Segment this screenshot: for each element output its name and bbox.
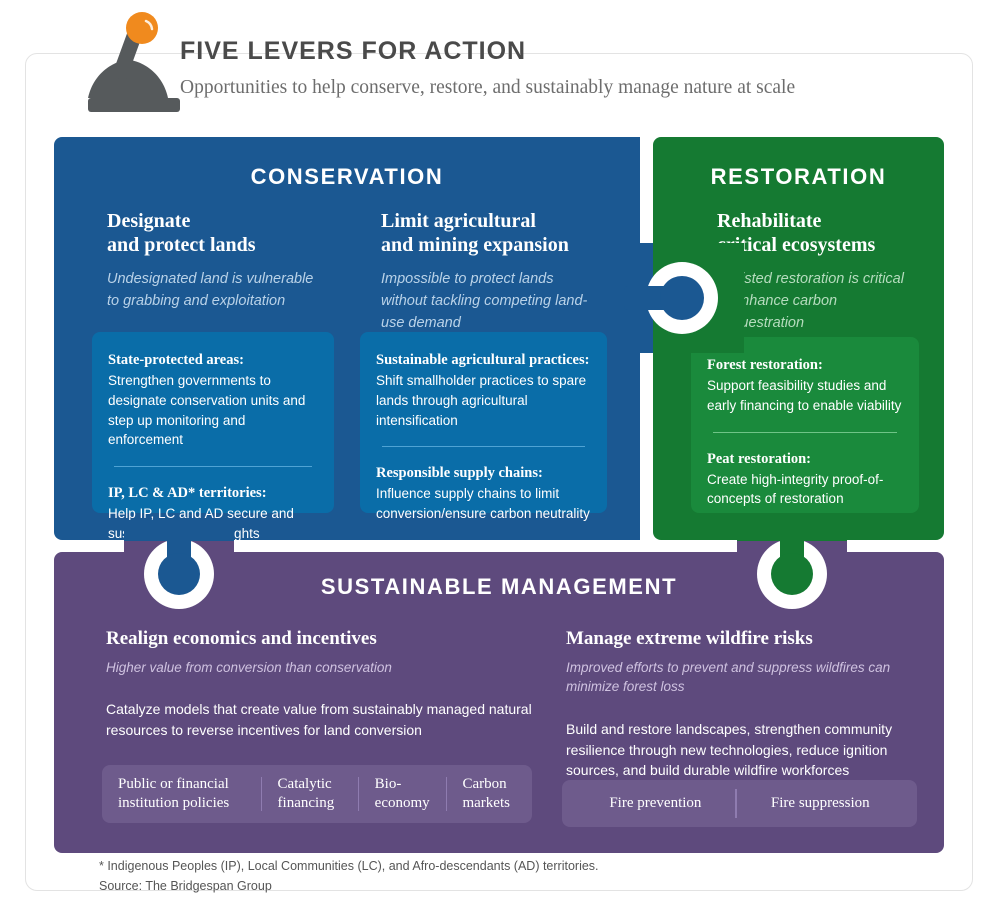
lever-subtitle-rehabilitate: Assisted restoration is critical to enha… [717,268,917,334]
card-item-label: Responsible supply chains: [376,465,543,481]
conservation-heading: CONSERVATION [54,164,640,190]
header-text-group: FIVE LEVERS FOR ACTION Opportunities to … [180,38,795,99]
lever-title-line1: Designate [107,210,190,232]
lever-icon [84,10,180,116]
lever-title-designate: Designate and protect lands [107,209,322,258]
card-item-label: Peat restoration: [707,451,811,467]
footnote-line-1: * Indigenous Peoples (IP), Local Communi… [99,856,599,876]
card-item-text: Shift smallholder practices to spare lan… [376,373,586,427]
page-title: FIVE LEVERS FOR ACTION [180,38,795,66]
connector-conservation-to-management [124,520,234,612]
tag-fire-suppression[interactable]: Fire suppression [737,794,904,813]
card-item-forest-restoration: Forest restoration: Support feasibility … [707,355,903,416]
pillbox-wildfire-tags: Fire prevention Fire suppression [562,780,917,827]
card-item-state-protected: State-protected areas: Strengthen govern… [108,350,318,450]
mgmt-title-realign: Realign economics and incentives [106,628,536,651]
lever-title-line1: Rehabilitate [717,210,821,232]
tag-public-financial[interactable]: Public or financial institution policies [102,775,261,813]
card-item-peat-restoration: Peat restoration: Create high-integrity … [707,449,903,510]
lever-title-line2: and mining expansion [381,234,569,256]
mgmt-subtitle-realign: Higher value from conversion than conser… [106,658,536,678]
mgmt-col-wildfire: Manage extreme wildfire risks Improved e… [566,628,936,781]
page-subtitle: Opportunities to help conserve, restore,… [180,76,795,99]
restoration-heading: RESTORATION [653,164,944,190]
lever-title-rehabilitate: Rehabilitate critical ecosystems [717,209,917,258]
mgmt-title-wildfire: Manage extreme wildfire risks [566,628,936,651]
mgmt-col-realign: Realign economics and incentives Higher … [106,628,536,741]
card-item-label: State-protected areas: [108,352,244,368]
tag-carbon-markets[interactable]: Carbon markets [446,775,532,813]
lever-subtitle-limit: Impossible to protect lands without tack… [381,268,601,334]
mgmt-body-wildfire: Build and restore landscapes, strengthen… [566,719,936,781]
card-designate: State-protected areas: Strengthen govern… [92,332,334,513]
lever-title-line1: Limit agricultural [381,210,536,232]
lever-title-limit: Limit agricultural and mining expansion [381,209,601,258]
connector-restoration-to-management [737,520,847,612]
card-item-text: Create high-integrity proof-of-concepts … [707,472,883,507]
card-limit: Sustainable agricultural practices: Shif… [360,332,607,513]
lever-title-line2: and protect lands [107,234,256,256]
card-item-label: Sustainable agricultural practices: [376,352,589,368]
header: FIVE LEVERS FOR ACTION Opportunities to … [84,8,944,120]
card-item-text: Support feasibility studies and early fi… [707,378,901,413]
tag-fire-prevention[interactable]: Fire prevention [575,794,735,813]
card-item-label: Forest restoration: [707,357,823,373]
card-divider [114,466,312,467]
tag-bio-economy[interactable]: Bio-economy [359,775,446,813]
card-divider [382,446,585,447]
card-item-text: Influence supply chains to limit convers… [376,486,590,521]
card-item-supply-chains: Responsible supply chains: Influence sup… [376,463,591,524]
connector-conservation-to-restoration [624,243,744,353]
lever-subtitle-designate: Undesignated land is vulnerable to grabb… [107,268,322,312]
tag-catalytic-financing[interactable]: Catalytic financing [262,775,358,813]
mgmt-subtitle-wildfire: Improved efforts to prevent and suppress… [566,658,936,697]
card-divider [713,432,897,433]
footnote-line-2: Source: The Bridgespan Group [99,876,599,896]
card-item-sustainable-ag: Sustainable agricultural practices: Shif… [376,350,591,430]
pillbox-realign-tags: Public or financial institution policies… [102,765,532,823]
panel-conservation: CONSERVATION Designate and protect lands… [54,137,640,540]
mgmt-body-realign: Catalyze models that create value from s… [106,699,536,740]
card-restoration: Forest restoration: Support feasibility … [691,337,919,513]
footnote: * Indigenous Peoples (IP), Local Communi… [99,856,599,897]
card-item-text: Strengthen governments to designate cons… [108,373,305,447]
infographic-page: FIVE LEVERS FOR ACTION Opportunities to … [0,0,1000,918]
card-item-label: IP, LC & AD* territories: [108,485,267,501]
